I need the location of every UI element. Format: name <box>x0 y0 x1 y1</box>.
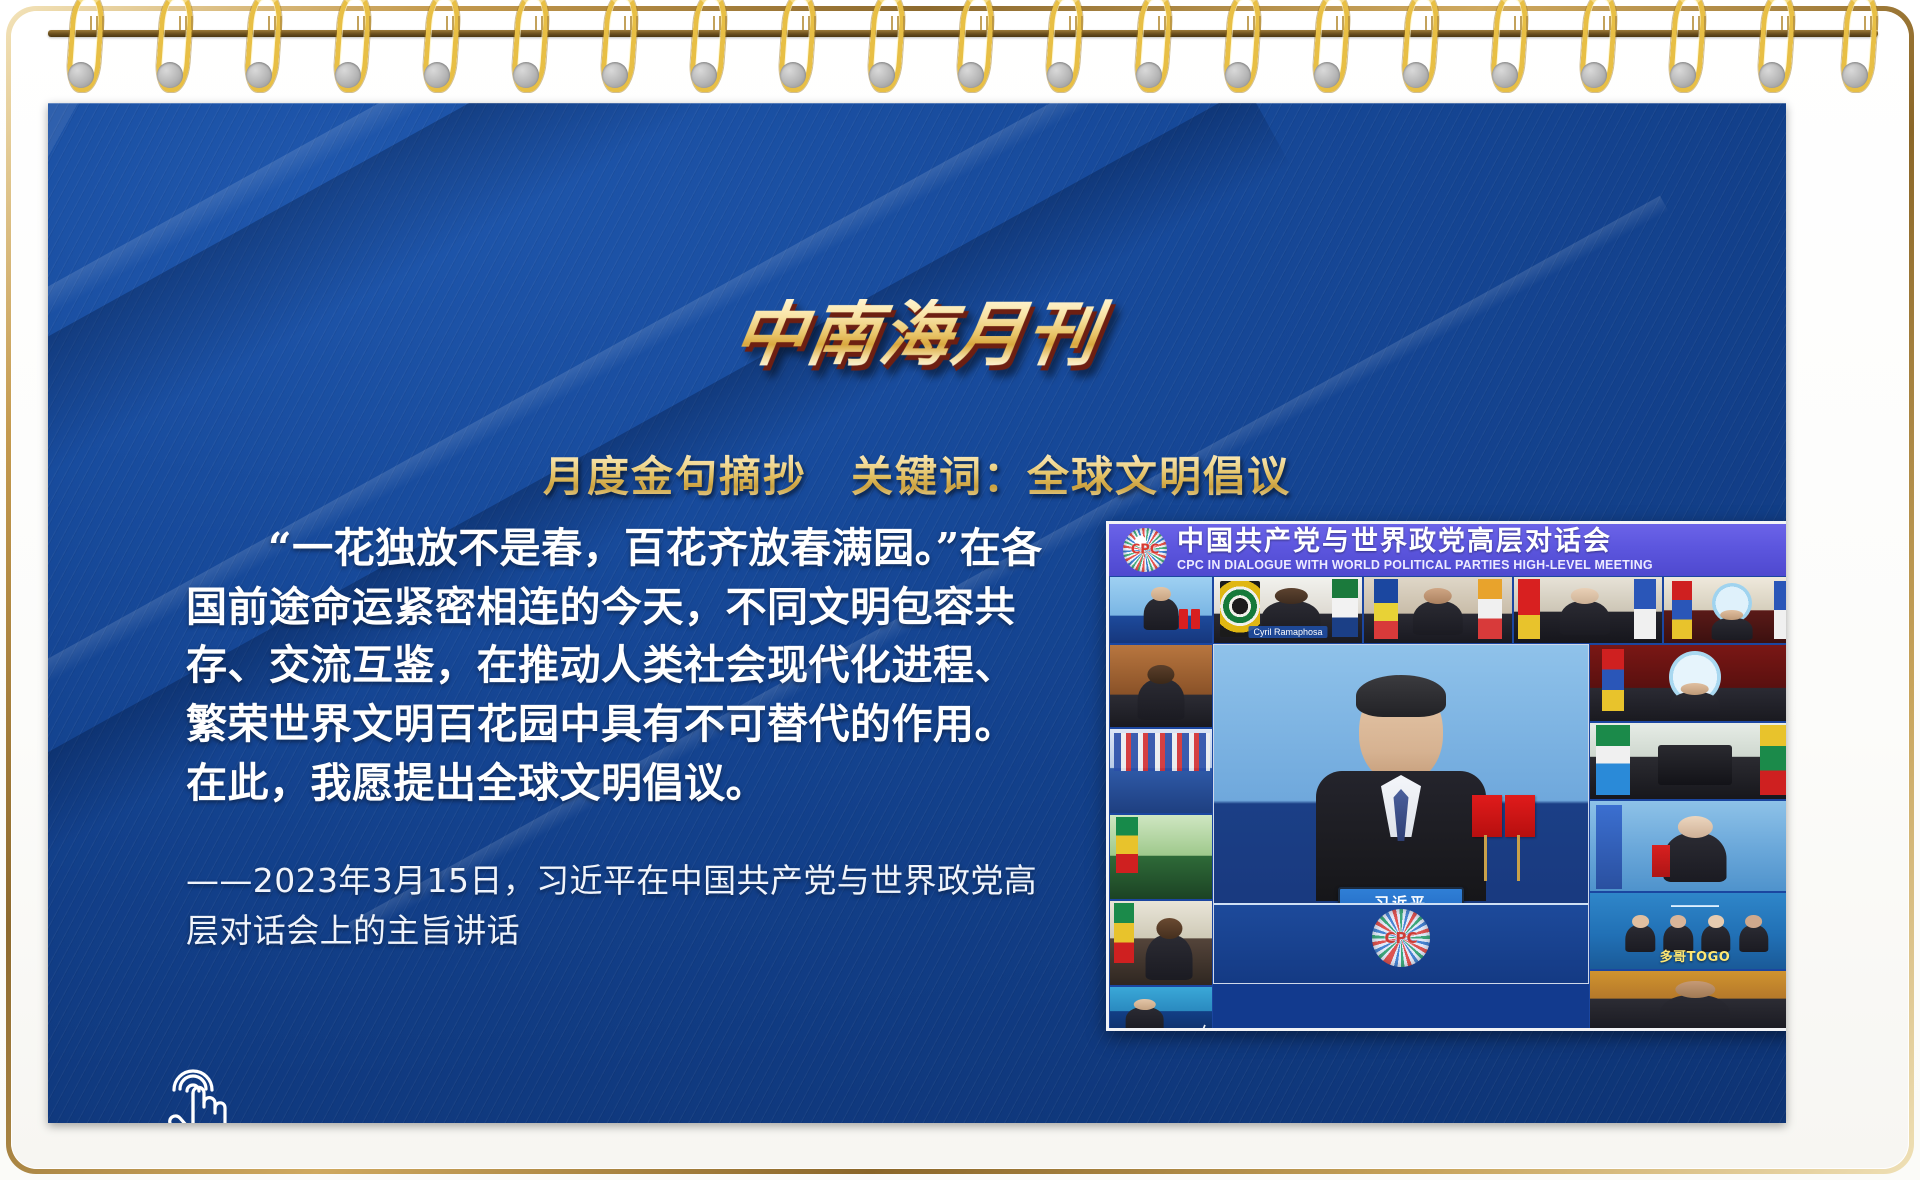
video-tile <box>1109 900 1213 986</box>
photo-banner: 中国共产党与世界政党高层对话会 CPC IN DIALOGUE WITH WOR… <box>1109 524 1786 576</box>
page-subtitle: 月度金句摘抄 关键词：全球文明倡议 <box>48 443 1786 504</box>
video-tile: ▬▬▬▬▬▬▬▬ 多哥TOGO <box>1589 892 1786 970</box>
banner-title-cn: 中国共产党与世界政党高层对话会 <box>1177 528 1653 555</box>
calendar-page-root: 中南海月刊 月度金句摘抄 关键词：全球文明倡议 “一花独放不是春，百花齐放春满园… <box>0 0 1920 1180</box>
blue-slide-panel: 中南海月刊 月度金句摘抄 关键词：全球文明倡议 “一花独放不是春，百花齐放春满园… <box>48 103 1786 1123</box>
video-tile <box>1589 970 1786 1031</box>
page-title: 中南海月刊 <box>48 299 1786 370</box>
video-grid: Cyril Ramaphosa <box>1109 576 1786 1028</box>
video-tile: AMANAT <box>1109 986 1213 1031</box>
video-tile <box>1589 644 1786 722</box>
tile-caption-amanat: AMANAT <box>1176 1023 1213 1031</box>
tile-caption-togo: 多哥TOGO <box>1590 946 1786 965</box>
main-speaker-tile: 习近平 XI JINPING <box>1213 644 1589 984</box>
china-flags <box>1472 795 1536 839</box>
video-tile <box>1109 814 1213 900</box>
quote-block: “一花独放不是春，百花齐放春满园。”在各国前途命运紧密相连的今天，不同文明包容共… <box>186 519 1056 955</box>
video-tile <box>1109 644 1213 728</box>
speaker-figure <box>1326 679 1476 889</box>
video-tile <box>1109 728 1213 814</box>
video-tile <box>1663 576 1786 644</box>
video-tile: Cyril Ramaphosa <box>1213 576 1363 644</box>
tap-hand-icon[interactable] <box>160 1063 232 1123</box>
quote-attribution: ——2023年3月15日，习近平在中国共产党与世界政党高层对话会上的主旨讲话 <box>186 856 1056 955</box>
video-tile <box>1589 722 1786 800</box>
video-tile <box>1363 576 1513 644</box>
banner-title-en: CPC IN DIALOGUE WITH WORLD POLITICAL PAR… <box>1177 559 1653 572</box>
cpc-globe-logo-icon <box>1123 528 1167 572</box>
cpc-globe-watermark-icon <box>1372 909 1430 967</box>
video-tile <box>1513 576 1663 644</box>
video-tile <box>1109 576 1213 644</box>
meeting-photo: 中国共产党与世界政党高层对话会 CPC IN DIALOGUE WITH WOR… <box>1106 521 1786 1031</box>
video-tile <box>1589 800 1786 892</box>
quote-text: “一花独放不是春，百花齐放春满园。”在各国前途命运紧密相连的今天，不同文明包容共… <box>186 519 1056 812</box>
tile-caption: Cyril Ramaphosa <box>1248 626 1327 638</box>
